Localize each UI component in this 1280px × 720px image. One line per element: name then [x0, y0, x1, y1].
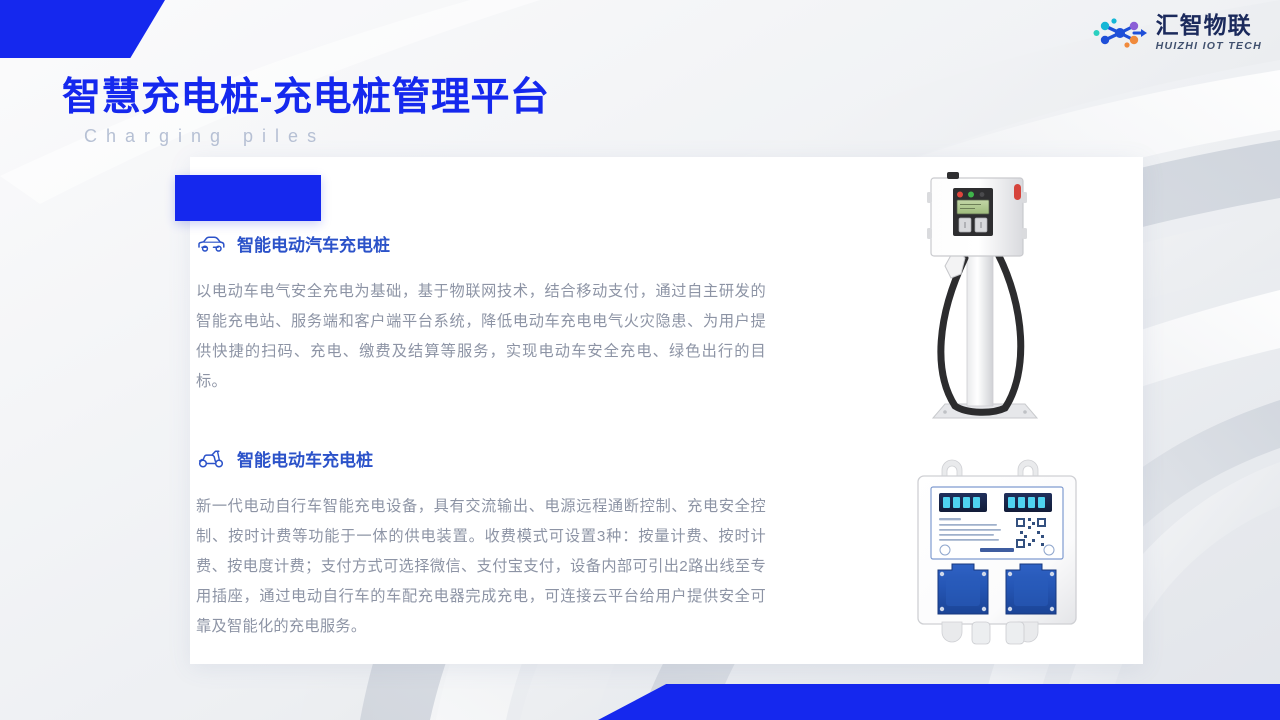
car-icon [196, 233, 226, 255]
section-2-body: 新一代电动自行车智能充电设备，具有交流输出、电源远程通断控制、充电安全控制、按时… [196, 492, 766, 642]
page-subtitle: Charging piles [84, 126, 325, 147]
section-2-header: 智能电动车充电桩 [196, 446, 766, 471]
company-logo: 汇智物联 HUIZHI IOT TECH [1093, 14, 1262, 52]
slide-root: 智慧充电桩-充电桩管理平台 Charging piles 汇智物联 HUIZHI… [0, 0, 1280, 720]
logo-name-cn: 汇智物联 [1156, 14, 1262, 37]
molecule-logo-icon [1093, 15, 1149, 51]
section-tab-chip[interactable] [175, 175, 321, 221]
logo-name-en: HUIZHI IOT TECH [1156, 41, 1262, 52]
scooter-icon [196, 448, 226, 470]
section-2-heading: 智能电动车充电桩 [237, 446, 373, 471]
section-ev-bike: 智能电动车充电桩 新一代电动自行车智能充电设备，具有交流输出、电源远程通断控制、… [196, 446, 766, 642]
section-1-header: 智能电动汽车充电桩 [196, 231, 766, 256]
ev-charging-pile-image [893, 166, 1113, 426]
bottom-accent-shape [598, 684, 1280, 720]
section-1-body: 以电动车电气安全充电为基础，基于物联网技术，结合移动支付，通过自主研发的智能充电… [196, 277, 766, 397]
section-1-heading: 智能电动汽车充电桩 [237, 231, 390, 256]
dual-socket-charging-box-image [898, 452, 1113, 657]
section-ev-car: 智能电动汽车充电桩 以电动车电气安全充电为基础，基于物联网技术，结合移动支付，通… [196, 231, 766, 397]
page-title: 智慧充电桩-充电桩管理平台 [62, 66, 550, 122]
